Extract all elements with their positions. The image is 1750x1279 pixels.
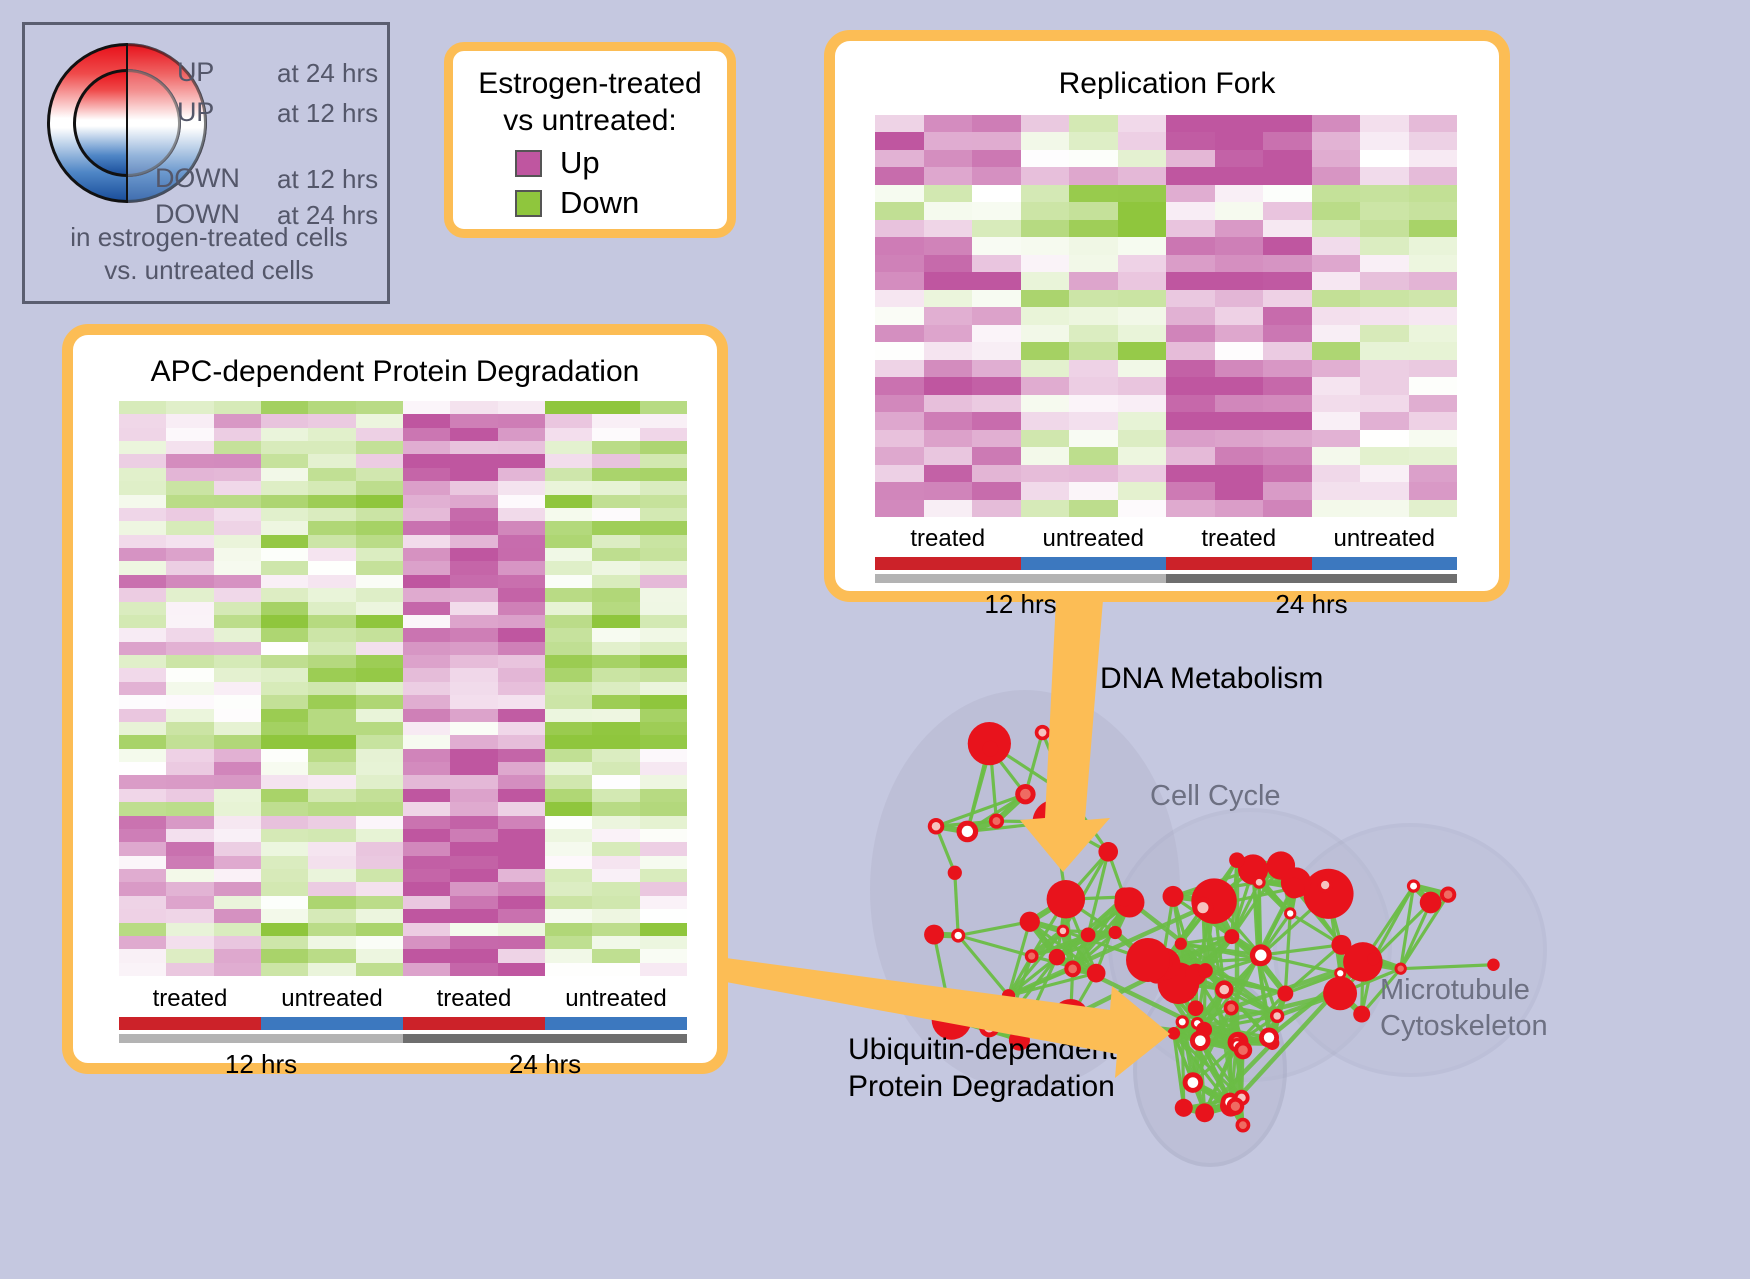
heatmap-cell <box>450 802 497 815</box>
heatmap-cell <box>119 695 166 708</box>
heatmap-cell <box>924 360 973 377</box>
graph-node-core <box>955 932 962 939</box>
heatmap-cell <box>875 377 924 394</box>
heatmap-cell <box>1166 430 1215 447</box>
heatmap-cell <box>592 882 639 895</box>
heatmap-cell <box>972 325 1021 342</box>
cluster-halo-dna-metabolism <box>870 690 1180 1090</box>
heatmap-cell <box>356 856 403 869</box>
graph-node-core <box>1152 970 1161 979</box>
heatmap-cell <box>166 949 213 962</box>
timepoint-labels-apc: 12 hrs24 hrs <box>119 1049 687 1080</box>
heatmap-cell <box>356 575 403 588</box>
heatmap-cell <box>214 401 261 414</box>
microtubule-line1: Microtubule <box>1380 972 1548 1008</box>
heatmap-cell <box>640 856 687 869</box>
heatmap-cell <box>1215 465 1264 482</box>
heatmap-cell <box>1118 150 1167 167</box>
heatmap-cell <box>640 668 687 681</box>
graph-edge <box>1253 870 1325 886</box>
graph-node <box>1367 953 1380 966</box>
heatmap-cell <box>214 642 261 655</box>
graph-edge <box>1156 964 1164 975</box>
heatmap-cell <box>261 816 308 829</box>
heatmap-cell <box>356 655 403 668</box>
heatmap-cell <box>119 615 166 628</box>
heatmap-cell <box>166 481 213 494</box>
graph-edge <box>1205 1043 1273 1113</box>
graph-edge <box>1181 944 1198 1024</box>
heatmap-cell <box>1021 360 1070 377</box>
graph-node <box>1267 851 1295 879</box>
heatmap-cell <box>972 307 1021 324</box>
heatmap-cell <box>640 709 687 722</box>
heatmap-cell <box>1263 220 1312 237</box>
graph-node-core <box>984 1022 995 1033</box>
heatmap-cell <box>356 735 403 748</box>
heatmap-cell <box>1021 220 1070 237</box>
graph-edge <box>1073 932 1116 968</box>
graph-node <box>1334 967 1346 979</box>
heatmap-cell <box>166 709 213 722</box>
cluster-label-ubiquitin: Ubiquitin-dependent Protein Degradation <box>848 1032 1117 1105</box>
graph-node <box>1175 938 1187 950</box>
graph-edge <box>1294 888 1341 945</box>
heatmap-cell <box>308 802 355 815</box>
heatmap-cell <box>1215 290 1264 307</box>
graph-edge <box>996 821 1054 822</box>
graph-edge <box>1285 973 1340 993</box>
graph-node <box>1317 877 1333 893</box>
graph-edge <box>1193 1045 1237 1083</box>
heatmap-cell <box>924 132 973 149</box>
heatmap-cell <box>1312 150 1361 167</box>
heatmap-cell <box>1069 342 1118 359</box>
heatmap-cell <box>1312 132 1361 149</box>
heatmap-cell <box>119 548 166 561</box>
heatmap-cell <box>1215 447 1264 464</box>
heatmap-cell <box>1021 482 1070 499</box>
heatmap-cell <box>640 923 687 936</box>
heatmap-cell <box>450 896 497 909</box>
heatmap-cell <box>1409 150 1458 167</box>
graph-edge <box>1285 945 1341 994</box>
heatmap-cell <box>403 535 450 548</box>
heatmap-cell <box>498 481 545 494</box>
graph-edge <box>1269 1016 1277 1038</box>
heatmap-cell <box>1021 307 1070 324</box>
graph-edge <box>1200 1041 1237 1045</box>
graph-node <box>1230 1034 1243 1047</box>
heatmap-cell <box>875 167 924 184</box>
heatmap-cell <box>1118 167 1167 184</box>
graph-edge <box>1237 1045 1243 1125</box>
heatmap-cell <box>356 882 403 895</box>
graph-node <box>1238 854 1268 884</box>
graph-edge <box>1197 955 1261 1023</box>
heatmap-cell <box>308 668 355 681</box>
panel-title-apc: APC-dependent Protein Degradation <box>73 355 717 389</box>
heatmap-cell <box>119 882 166 895</box>
graph-node <box>1183 1072 1204 1093</box>
heatmap-cell <box>545 454 592 467</box>
heatmap-cell <box>261 949 308 962</box>
graph-edge <box>1173 896 1214 901</box>
graph-node <box>1323 976 1357 1010</box>
sample-label-2: treated <box>1166 525 1312 553</box>
heatmap-cell <box>356 963 403 976</box>
heatmap-cell <box>308 816 355 829</box>
heatmap-cell <box>875 307 924 324</box>
heatmap-cell <box>261 789 308 802</box>
graph-node <box>1250 944 1272 966</box>
graph-edge <box>958 936 1031 957</box>
graph-node <box>1168 1027 1181 1040</box>
heatmap-cell <box>166 575 213 588</box>
heatmap-cell <box>1409 465 1458 482</box>
heatmap-cell <box>119 709 166 722</box>
graph-edge <box>1363 962 1401 969</box>
heatmap-cell <box>261 722 308 735</box>
heatmap-cell <box>1312 430 1361 447</box>
heatmap-cell <box>356 642 403 655</box>
heatmap-cell <box>1021 150 1070 167</box>
heatmap-cell <box>214 749 261 762</box>
graph-edge <box>1200 1041 1230 1102</box>
timepoint-bar-segment-1 <box>403 1034 687 1043</box>
graph-edge <box>1259 882 1261 955</box>
heatmap-cell <box>119 923 166 936</box>
heatmap-cell <box>1263 237 1312 254</box>
heatmap-cell <box>356 481 403 494</box>
heatmap-cell <box>545 535 592 548</box>
graph-edge <box>1156 944 1181 975</box>
heatmap-cell <box>450 735 497 748</box>
heatmap-cell <box>1312 395 1361 412</box>
heatmap-cell <box>214 615 261 628</box>
heatmap-cell <box>1166 377 1215 394</box>
graph-node <box>1175 1099 1193 1117</box>
heatmap-cell <box>403 829 450 842</box>
panel-apc-degradation: APC-dependent Protein Degradation treate… <box>62 324 728 1074</box>
heatmap-cell <box>403 628 450 641</box>
graph-edge <box>967 821 996 831</box>
graph-edge <box>1181 944 1196 975</box>
heatmap-cell <box>1312 307 1361 324</box>
heatmap-cell <box>924 290 973 307</box>
heatmap-cell <box>403 575 450 588</box>
panel-replication-fork: Replication Fork treateduntreatedtreated… <box>824 30 1510 602</box>
condition-bar-segment-3 <box>545 1017 687 1030</box>
heatmap-cell <box>261 642 308 655</box>
graph-node <box>1191 878 1236 923</box>
graph-edge <box>1162 964 1204 1030</box>
heatmap-cell <box>450 842 497 855</box>
graph-edge <box>989 744 1068 796</box>
graph-edge <box>1259 882 1290 913</box>
heatmap-cell <box>450 561 497 574</box>
sample-label-0: treated <box>119 985 261 1013</box>
microtubule-line2: Cytoskeleton <box>1380 1008 1548 1044</box>
heatmap-cell <box>119 628 166 641</box>
graph-edge <box>1178 944 1180 984</box>
graph-edge <box>1088 897 1124 935</box>
graph-edge <box>1156 975 1224 990</box>
graph-node <box>928 818 945 835</box>
heatmap-cell <box>972 447 1021 464</box>
heatmap-cell <box>1215 325 1264 342</box>
heatmap-cell <box>1263 115 1312 132</box>
heatmap-cell <box>214 495 261 508</box>
heatmap-cell <box>1312 412 1361 429</box>
graph-edge <box>1401 902 1431 968</box>
graph-edge <box>1066 899 1115 932</box>
heatmap-cell <box>592 802 639 815</box>
heatmap-cell <box>214 602 261 615</box>
heatmap-cell <box>1215 255 1264 272</box>
heatmap-cell <box>498 869 545 882</box>
heatmap-cell <box>545 936 592 949</box>
condition-bar-segment-3 <box>1312 557 1458 570</box>
heatmap-cell <box>545 749 592 762</box>
heatmap-cell <box>403 441 450 454</box>
graph-edge <box>1156 908 1203 975</box>
heatmap-cell <box>214 561 261 574</box>
heatmap-cell <box>166 521 213 534</box>
heatmap-cell <box>498 735 545 748</box>
heatmap-cell <box>592 695 639 708</box>
heatmap-apc <box>119 401 687 976</box>
heatmap-cell <box>640 615 687 628</box>
heatmap-cell <box>261 762 308 775</box>
heatmap-cell <box>1069 220 1118 237</box>
graph-edge <box>1182 1022 1193 1083</box>
heatmap-cell <box>403 963 450 976</box>
heatmap-cell <box>403 642 450 655</box>
heatmap-cell <box>640 789 687 802</box>
heatmap-cell <box>875 482 924 499</box>
graph-node <box>1033 800 1078 845</box>
heatmap-cell <box>972 412 1021 429</box>
heatmap-cell <box>498 642 545 655</box>
heatmap-cell <box>640 735 687 748</box>
heatmap-cell <box>1021 132 1070 149</box>
heatmap-cell <box>166 816 213 829</box>
heatmap-cell <box>214 548 261 561</box>
heatmap-cell <box>214 668 261 681</box>
graph-node-core <box>1197 902 1208 913</box>
graph-edge <box>1164 944 1181 964</box>
heatmap-cell <box>498 615 545 628</box>
graph-edge <box>990 749 996 821</box>
heatmap-cell <box>924 272 973 289</box>
heatmap-cell <box>261 936 308 949</box>
heatmap-cell <box>545 628 592 641</box>
graph-edge <box>1231 1008 1241 1098</box>
heatmap-cell <box>924 430 973 447</box>
heatmap-cell <box>545 655 592 668</box>
heatmap-cell <box>1409 377 1458 394</box>
heatmap-cell <box>403 789 450 802</box>
heatmap-cell <box>450 682 497 695</box>
heatmap-cell <box>498 521 545 534</box>
graph-edge <box>1294 888 1328 894</box>
graph-edge <box>1224 990 1269 1038</box>
graph-edge <box>1272 994 1285 1043</box>
cluster-label-dna-metabolism: DNA Metabolism <box>1100 662 1323 696</box>
graph-edge <box>1030 922 1063 931</box>
heatmap-cell <box>592 628 639 641</box>
heatmap-cell <box>1409 307 1458 324</box>
colorwheel-legend: UP at 24 hrs UP at 12 hrs DOWN at 12 hrs… <box>22 22 390 304</box>
graph-edge <box>1193 1083 1230 1103</box>
heatmap-cell <box>214 936 261 949</box>
heatmap-cell <box>1409 237 1458 254</box>
heatmap-cell <box>403 909 450 922</box>
heatmap-cell <box>545 682 592 695</box>
heatmap-cell <box>450 548 497 561</box>
heatmap-cell <box>592 401 639 414</box>
graph-node <box>1057 925 1070 938</box>
heatmap-cell <box>498 963 545 976</box>
graph-edge <box>1204 990 1224 1030</box>
graph-edge <box>1200 1041 1204 1113</box>
heatmap-cell <box>1409 360 1458 377</box>
heatmap-cell <box>498 588 545 601</box>
heatmap-cell <box>356 682 403 695</box>
heatmap-cell <box>1409 500 1458 517</box>
heatmap-cell <box>1215 237 1264 254</box>
sample-label-2: treated <box>403 985 545 1013</box>
heatmap-cell <box>545 816 592 829</box>
heatmap-cell <box>1215 342 1264 359</box>
heatmap-cell <box>308 521 355 534</box>
cluster-label-microtubule: Microtubule Cytoskeleton <box>1380 972 1548 1045</box>
heatmap-cell <box>450 882 497 895</box>
graph-node-core <box>962 826 973 837</box>
heatmap-cell <box>1263 167 1312 184</box>
heatmap-cell <box>545 709 592 722</box>
graph-node <box>1115 887 1134 906</box>
heatmap-cell <box>972 185 1021 202</box>
graph-edge <box>1258 883 1296 959</box>
heatmap-cell <box>592 722 639 735</box>
graph-edge <box>1269 994 1285 1038</box>
graph-node <box>1234 1041 1252 1059</box>
heatmap-cell <box>545 615 592 628</box>
heatmap-cell <box>1360 377 1409 394</box>
heatmap-cell <box>545 869 592 882</box>
heatmap-cell <box>119 869 166 882</box>
graph-node <box>1163 886 1184 907</box>
graph-node <box>924 925 944 945</box>
heatmap-cell <box>308 655 355 668</box>
graph-edge <box>1253 870 1258 959</box>
heatmap-cell <box>1118 430 1167 447</box>
heatmap-cell <box>356 508 403 521</box>
heatmap-cell <box>972 360 1021 377</box>
heatmap-cell <box>450 428 497 441</box>
heatmap-cell <box>214 575 261 588</box>
heatmap-cell <box>214 682 261 695</box>
heatmap-cell <box>592 495 639 508</box>
heatmap-cell <box>545 548 592 561</box>
heatmap-cell <box>214 882 261 895</box>
graph-node <box>1277 986 1293 1002</box>
graph-edge <box>967 822 1055 831</box>
heatmap-cell <box>1118 500 1167 517</box>
graph-edge <box>1281 866 1290 914</box>
heatmap-cell <box>403 588 450 601</box>
heatmap-cell <box>308 628 355 641</box>
graph-edge <box>1196 937 1232 975</box>
graph-edge <box>1148 960 1200 1041</box>
graph-edge <box>1204 1016 1277 1030</box>
heatmap-cell <box>592 655 639 668</box>
heatmap-cell <box>308 561 355 574</box>
graph-edge <box>1231 1008 1277 1016</box>
graph-edge <box>1204 971 1205 1030</box>
heatmap-cell <box>403 735 450 748</box>
heatmap-cell <box>1360 185 1409 202</box>
heatmap-cell <box>261 682 308 695</box>
graph-node-core <box>1233 1037 1240 1044</box>
heatmap-cell <box>261 481 308 494</box>
graph-edge <box>1290 888 1294 913</box>
graph-edge <box>1232 866 1281 937</box>
heatmap-cell <box>498 535 545 548</box>
graph-node-core <box>1068 965 1077 974</box>
heatmap-cell <box>592 508 639 521</box>
graph-node <box>1353 1006 1370 1023</box>
heatmap-cell <box>498 762 545 775</box>
heatmap-cell <box>214 588 261 601</box>
heatmap-cell <box>1263 132 1312 149</box>
heatmap-cell <box>1360 115 1409 132</box>
graph-edge <box>1181 944 1258 959</box>
heatmap-cell <box>403 414 450 427</box>
heatmap-cell <box>498 454 545 467</box>
heatmap-cell <box>972 395 1021 412</box>
heatmap-cell <box>166 735 213 748</box>
graph-edge <box>1258 913 1290 958</box>
graph-node <box>1176 1015 1189 1028</box>
heatmap-cell <box>498 428 545 441</box>
heatmap-cell <box>1166 482 1215 499</box>
graph-node-core <box>1194 1020 1201 1027</box>
heatmap-cell <box>1215 115 1264 132</box>
heatmap-cell <box>119 481 166 494</box>
graph-edge <box>1096 897 1124 973</box>
graph-edge <box>1414 886 1431 902</box>
heatmap-cell <box>498 561 545 574</box>
heatmap-cell <box>214 428 261 441</box>
graph-edge <box>1204 1030 1272 1043</box>
heatmap-cell <box>403 521 450 534</box>
graph-edge <box>1055 795 1069 822</box>
heatmap-cell <box>308 882 355 895</box>
legend-row-down: Down <box>515 185 639 221</box>
graph-edge <box>1174 1033 1243 1050</box>
heatmap-cell <box>308 789 355 802</box>
heatmap-cell <box>498 936 545 949</box>
heatmap-cell <box>1166 185 1215 202</box>
heatmap-cell <box>356 401 403 414</box>
graph-edge <box>1258 959 1285 994</box>
heatmap-cell <box>450 655 497 668</box>
graph-edge <box>1205 1040 1237 1113</box>
heatmap-cell <box>498 722 545 735</box>
